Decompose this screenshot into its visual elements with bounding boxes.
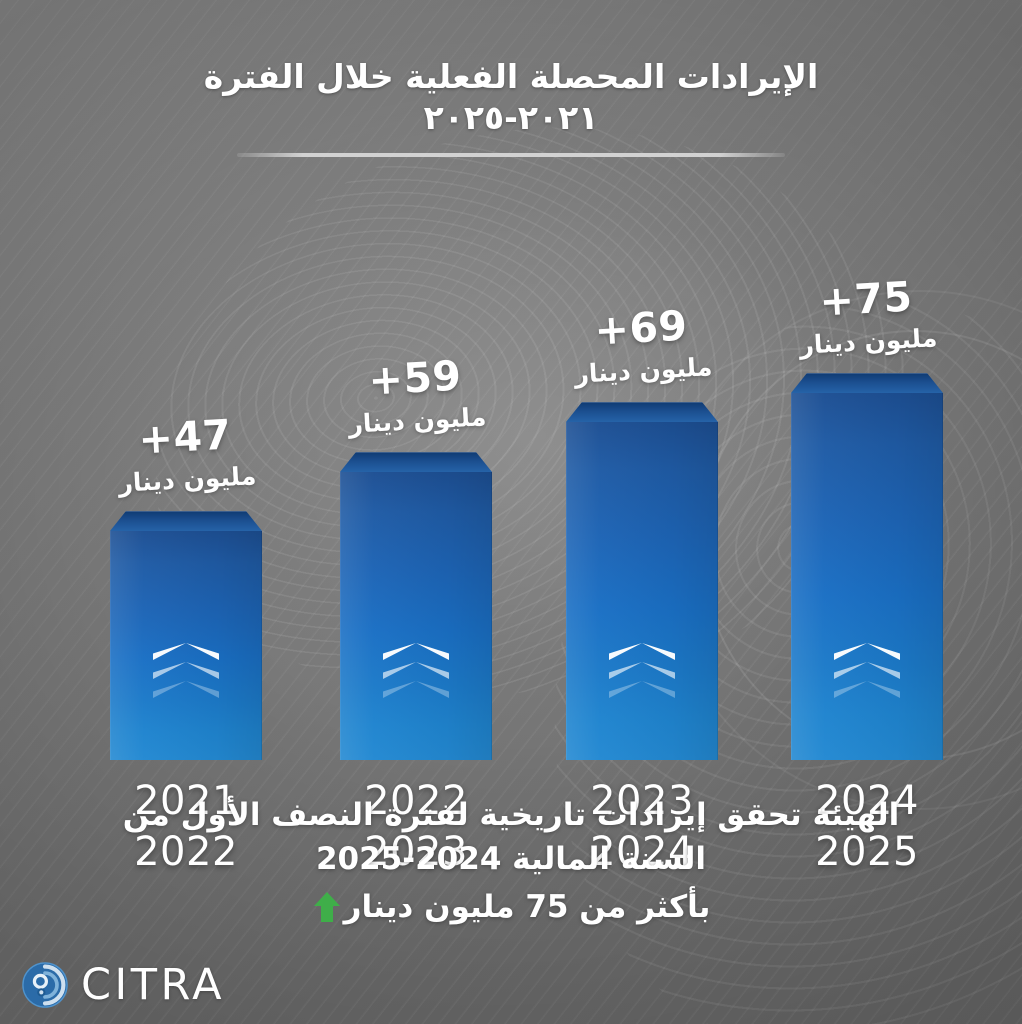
bar[interactable] [566, 419, 718, 760]
bar[interactable] [340, 469, 492, 760]
bar-label-group: +69مليون دينار [525, 301, 759, 391]
caption-block: الهيئة تحقق إيرادات تاريخية لفترة النصف … [0, 793, 1022, 929]
citra-logo: CITRA [22, 962, 225, 1008]
bar-chart: +47مليون دينار20212022+59مليون دينار2022… [0, 140, 1022, 760]
bar-label-group: +59مليون دينار [299, 351, 533, 441]
chevrons-up-icon [153, 643, 219, 705]
chevron-up-icon [383, 681, 449, 698]
chevron-up-icon [153, 662, 219, 679]
chevrons-up-icon [383, 643, 449, 705]
bar-unit-label: مليون دينار [72, 460, 303, 500]
bar-group: +75مليون دينار20242025 [791, 255, 943, 760]
chevron-up-icon [609, 681, 675, 698]
bar-top-facet [110, 511, 262, 531]
chevron-up-icon [609, 643, 675, 660]
chevron-up-icon [383, 662, 449, 679]
bar-group: +59مليون دينار20222023 [340, 255, 492, 760]
infographic-poster: الإيرادات المحصلة الفعلية خلال الفترة ٢٠… [0, 0, 1022, 1024]
bar-sheen [340, 472, 492, 760]
chevron-up-icon [153, 681, 219, 698]
bar-body [110, 531, 262, 760]
bar-group: +47مليون دينار20212022 [110, 255, 262, 760]
caption-line-1: الهيئة تحقق إيرادات تاريخية لفترة النصف … [0, 793, 1022, 837]
bar-label-group: +47مليون دينار [69, 410, 303, 500]
page-title: الإيرادات المحصلة الفعلية خلال الفترة ٢٠… [0, 56, 1022, 139]
bar-label-group: +75مليون دينار [750, 272, 984, 362]
chevrons-up-icon [834, 643, 900, 705]
bar-body [340, 472, 492, 760]
citra-logo-text: CITRA [81, 964, 225, 1007]
chevron-up-icon [609, 662, 675, 679]
arrow-up-icon [312, 890, 342, 924]
bar[interactable] [791, 390, 943, 760]
caption-line-3: بأكثر من 75 مليون دينار [344, 885, 711, 929]
chevron-up-icon [834, 681, 900, 698]
citra-signal-icon [22, 962, 68, 1008]
chevron-up-icon [834, 643, 900, 660]
bar-top-facet [791, 373, 943, 393]
bar-sheen [566, 422, 718, 760]
bar-body [791, 393, 943, 760]
bar-body [566, 422, 718, 760]
bar-unit-label: مليون دينار [302, 401, 533, 441]
chevron-up-icon [834, 662, 900, 679]
bar-unit-label: مليون دينار [528, 351, 759, 391]
bar-group: +69مليون دينار20232024 [566, 255, 718, 760]
bar-top-facet [566, 402, 718, 422]
caption-line-2: السنة المالية 2024-2025 [0, 837, 1022, 881]
bar-value-label: +75 [750, 272, 982, 328]
chevron-up-icon [383, 643, 449, 660]
chevron-up-icon [153, 643, 219, 660]
bar[interactable] [110, 528, 262, 760]
bar-unit-label: مليون دينار [753, 322, 984, 362]
caption-line-3-row: بأكثر من 75 مليون دينار [0, 881, 1022, 929]
bar-top-facet [340, 452, 492, 472]
bar-value-label: +47 [69, 410, 301, 466]
bar-value-label: +69 [525, 301, 757, 357]
chevrons-up-icon [609, 643, 675, 705]
bar-value-label: +59 [299, 351, 531, 407]
